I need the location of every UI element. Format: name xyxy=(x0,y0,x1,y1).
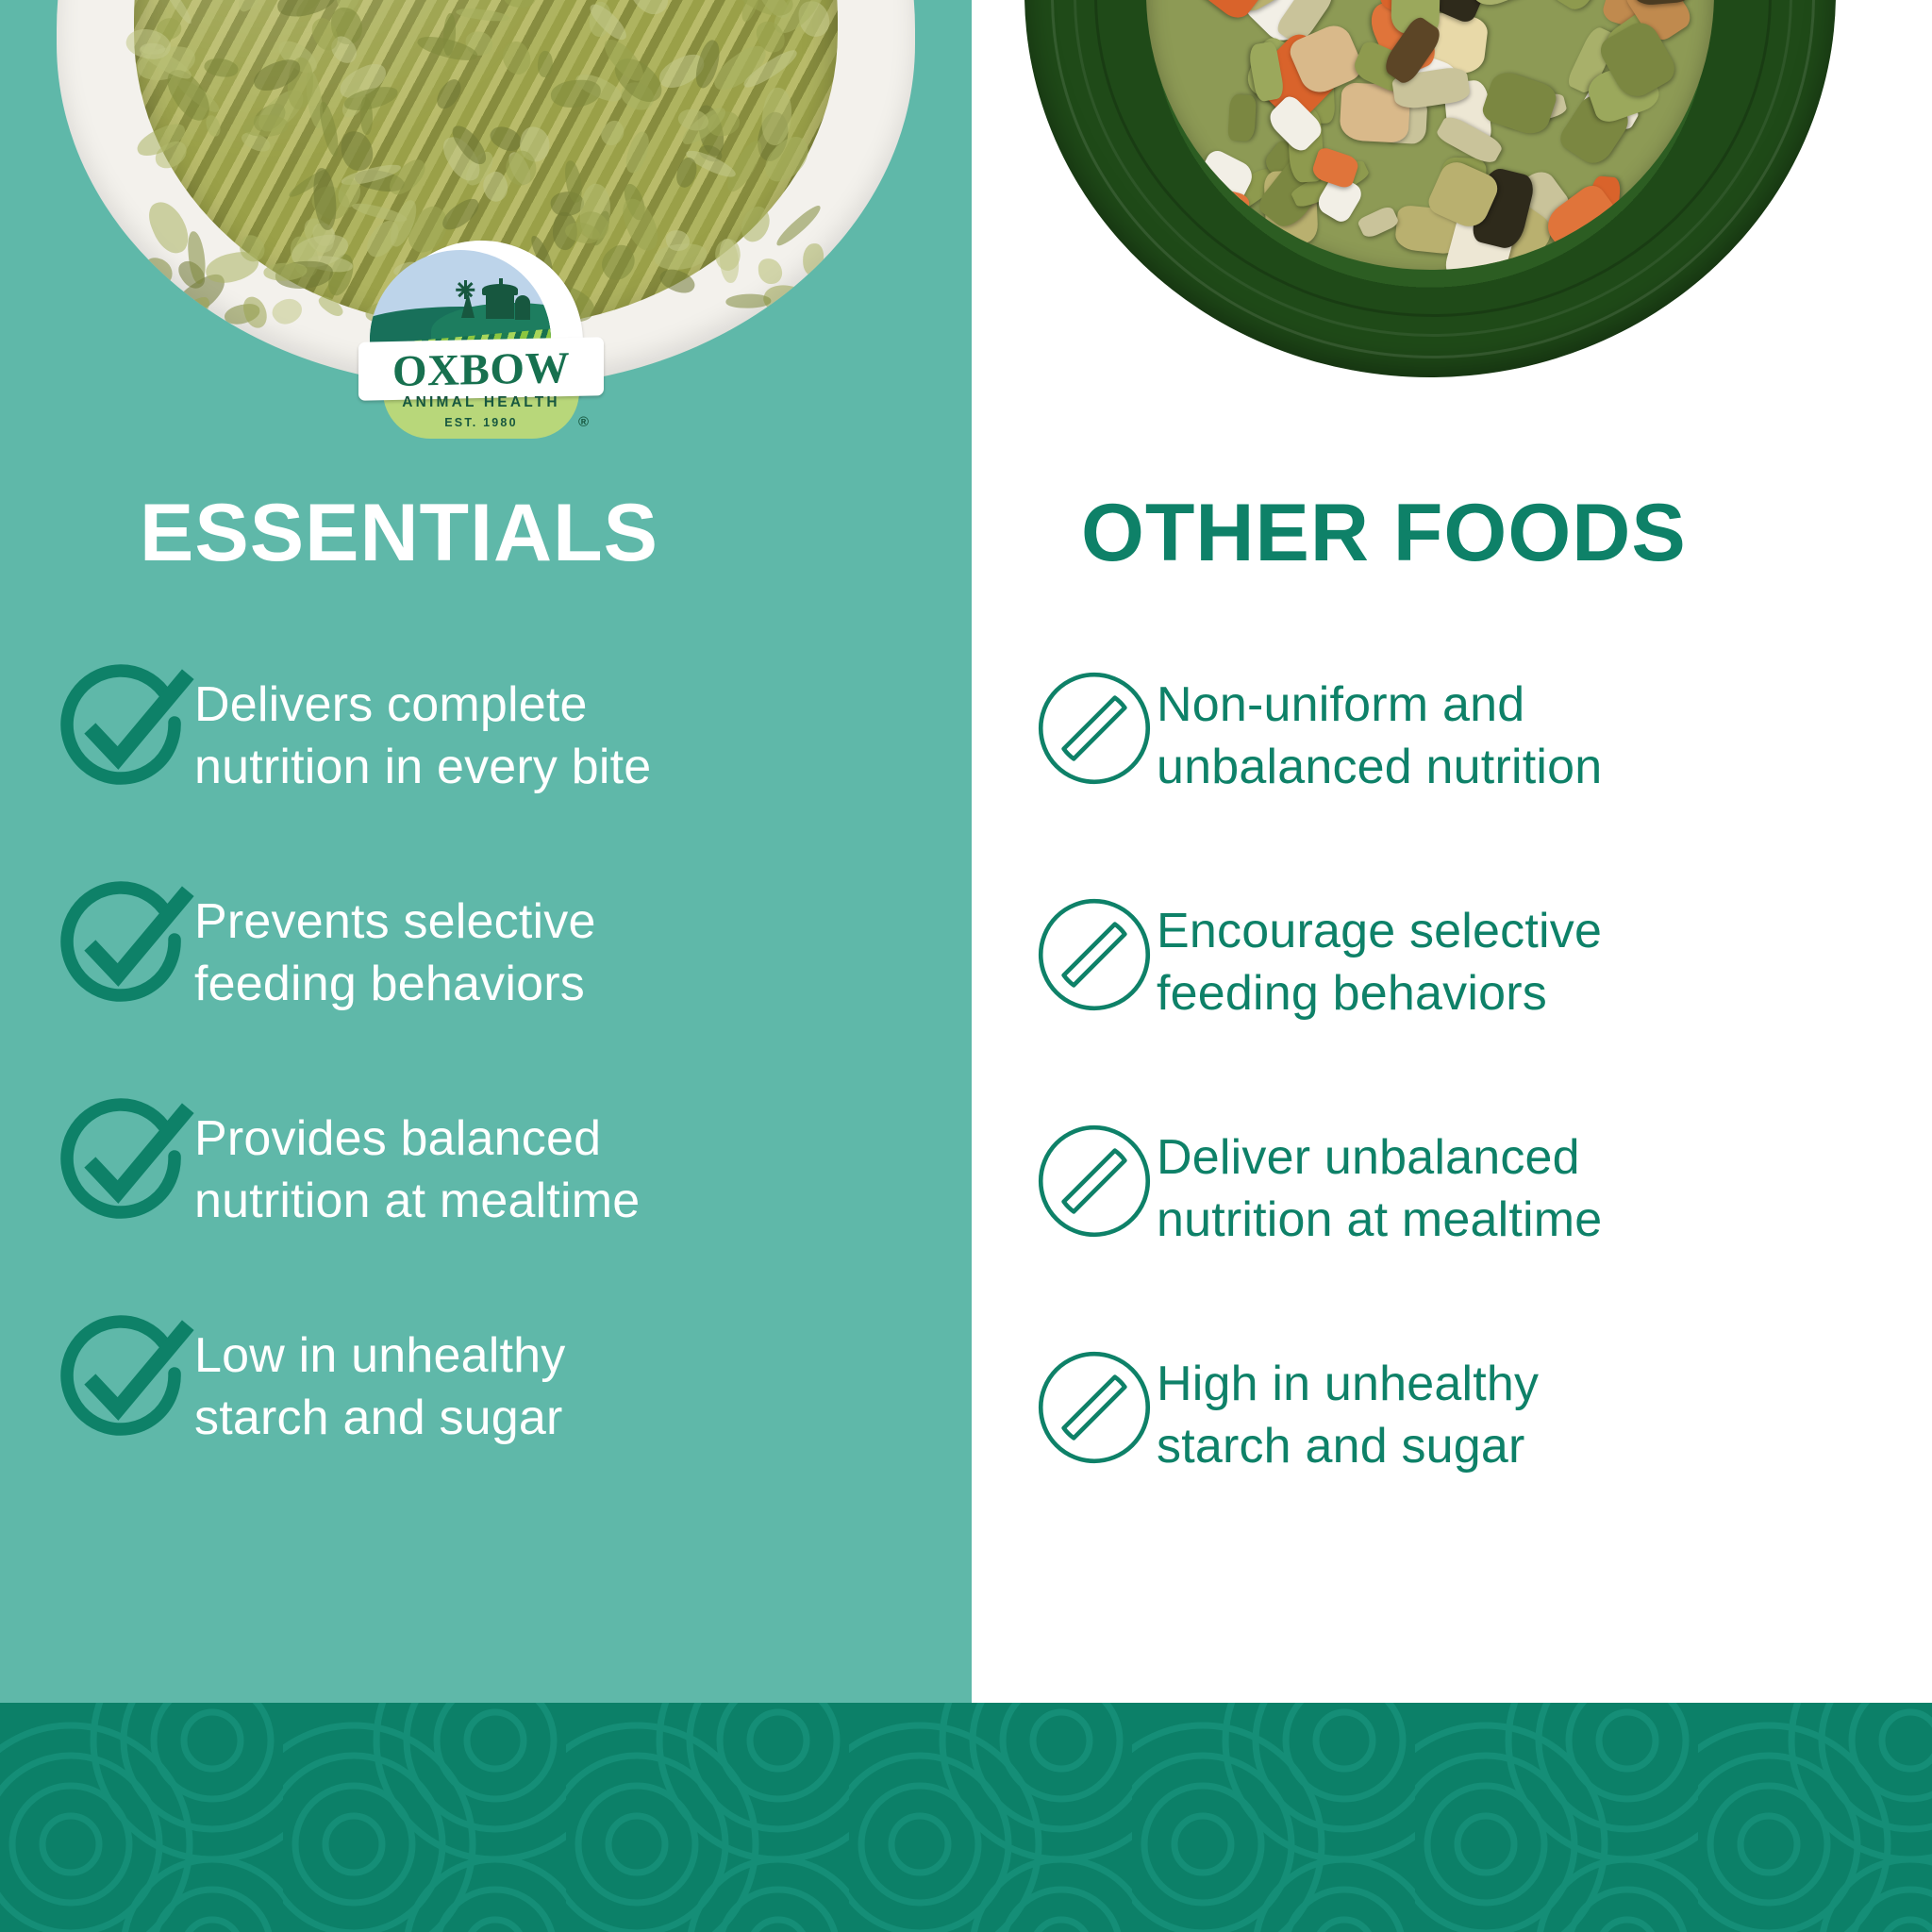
list-item-line1: Prevents selective xyxy=(194,894,596,949)
pellet xyxy=(536,50,555,78)
barn-icon xyxy=(486,292,514,319)
photo-band xyxy=(0,0,1932,377)
pellet xyxy=(203,249,261,287)
logo-established: EST. 1980 xyxy=(358,416,604,429)
pellet xyxy=(141,256,175,288)
pellet xyxy=(621,129,654,175)
food-chunk xyxy=(1548,0,1608,14)
food-chunk xyxy=(1357,205,1400,241)
pellet xyxy=(242,113,289,137)
check-circle-icon xyxy=(53,877,194,1019)
registered-trademark-icon: ® xyxy=(578,414,589,430)
no-symbol-icon xyxy=(1032,1119,1157,1243)
food-chunk xyxy=(1228,94,1257,142)
list-item: Delivers complete nutrition in every bit… xyxy=(53,660,958,802)
pellet xyxy=(431,75,466,113)
silo-icon xyxy=(515,295,530,320)
list-item-line1: Encourage selective xyxy=(1157,904,1602,958)
logo-tagline: ANIMAL HEALTH xyxy=(358,394,604,411)
list-item-line1: Provides balanced xyxy=(194,1111,601,1166)
pellet xyxy=(275,0,339,20)
pellet xyxy=(735,202,776,246)
list-item-line1: High in unhealthy xyxy=(1157,1357,1539,1411)
other-foods-photo xyxy=(1024,0,1836,377)
no-symbol-icon xyxy=(1032,666,1157,791)
pellet xyxy=(497,37,537,78)
list-item: Encourage selective feeding behaviors xyxy=(1032,887,1919,1024)
list-item-line1: Deliver unbalanced xyxy=(1157,1130,1580,1185)
list-item-text: Delivers complete nutrition in every bit… xyxy=(194,660,958,798)
pellet xyxy=(203,56,240,80)
essentials-benefit-list: Delivers complete nutrition in every bit… xyxy=(53,660,958,1453)
list-item-text: Provides balanced nutrition at mealtime xyxy=(194,1094,958,1232)
logo-brand-name: OXBOW xyxy=(358,340,604,399)
list-item-line2: feeding behaviors xyxy=(194,957,585,1011)
oxbow-logo: OXBOW ANIMAL HEALTH EST. 1980 ® xyxy=(358,241,604,443)
infographic-page: OXBOW ANIMAL HEALTH EST. 1980 ® ESSENTIA… xyxy=(0,0,1932,1932)
pellet xyxy=(316,292,346,320)
check-circle-icon xyxy=(53,1311,194,1453)
list-item-line1: Non-uniform and xyxy=(1157,677,1524,732)
pellet xyxy=(622,0,675,21)
list-item-text: Encourage selective feeding behaviors xyxy=(1157,887,1919,1024)
list-item-line2: starch and sugar xyxy=(1157,1419,1525,1474)
list-item-text: Prevents selective feeding behaviors xyxy=(194,877,958,1015)
pellet xyxy=(758,258,783,285)
no-symbol-icon xyxy=(1032,1345,1157,1470)
list-item: Deliver unbalanced nutrition at mealtime xyxy=(1032,1113,1919,1251)
pellet xyxy=(596,117,629,149)
pellet xyxy=(456,6,510,24)
list-item-text: Non-uniform and unbalanced nutrition xyxy=(1157,660,1919,798)
list-item-line2: nutrition at mealtime xyxy=(1157,1192,1602,1247)
list-item-line1: Delivers complete xyxy=(194,677,588,732)
essentials-heading: ESSENTIALS xyxy=(140,487,658,580)
pellet xyxy=(318,100,342,158)
list-item-text: Deliver unbalanced nutrition at mealtime xyxy=(1157,1113,1919,1251)
pellet xyxy=(501,0,538,10)
list-item-line2: unbalanced nutrition xyxy=(1157,740,1602,794)
list-item: Prevents selective feeding behaviors xyxy=(53,877,958,1019)
pellet xyxy=(551,79,602,108)
list-item-text: High in unhealthy starch and sugar xyxy=(1157,1340,1919,1477)
list-item-line2: feeding behaviors xyxy=(1157,966,1547,1021)
list-item-text: Low in unhealthy starch and sugar xyxy=(194,1311,958,1449)
concentric-circles-pattern xyxy=(0,1703,1932,1932)
windmill-icon xyxy=(451,278,479,318)
list-item: Provides balanced nutrition at mealtime xyxy=(53,1094,958,1236)
list-item-line2: nutrition at mealtime xyxy=(194,1174,640,1228)
footer-pattern-band xyxy=(0,1703,1932,1932)
list-item-line1: Low in unhealthy xyxy=(194,1328,565,1383)
pellet xyxy=(268,292,306,329)
pellet xyxy=(232,0,281,16)
no-symbol-icon xyxy=(1032,892,1157,1017)
pellet xyxy=(657,264,697,298)
pellet xyxy=(725,293,771,308)
check-circle-icon xyxy=(53,1094,194,1236)
list-item: Non-uniform and unbalanced nutrition xyxy=(1032,660,1919,798)
pellet xyxy=(802,243,824,275)
pellet xyxy=(341,130,375,173)
list-item: Low in unhealthy starch and sugar xyxy=(53,1311,958,1453)
food-chunk xyxy=(1480,67,1560,139)
other-foods-heading: OTHER FOODS xyxy=(1081,487,1687,580)
pellet xyxy=(241,293,269,329)
pellet xyxy=(438,194,484,234)
check-circle-icon xyxy=(53,660,194,802)
list-item-line2: nutrition in every bite xyxy=(194,740,651,794)
pellet xyxy=(205,114,222,138)
list-item: High in unhealthy starch and sugar xyxy=(1032,1340,1919,1477)
list-item-line2: starch and sugar xyxy=(194,1391,563,1445)
other-foods-drawback-list: Non-uniform and unbalanced nutrition Enc… xyxy=(1032,660,1919,1566)
